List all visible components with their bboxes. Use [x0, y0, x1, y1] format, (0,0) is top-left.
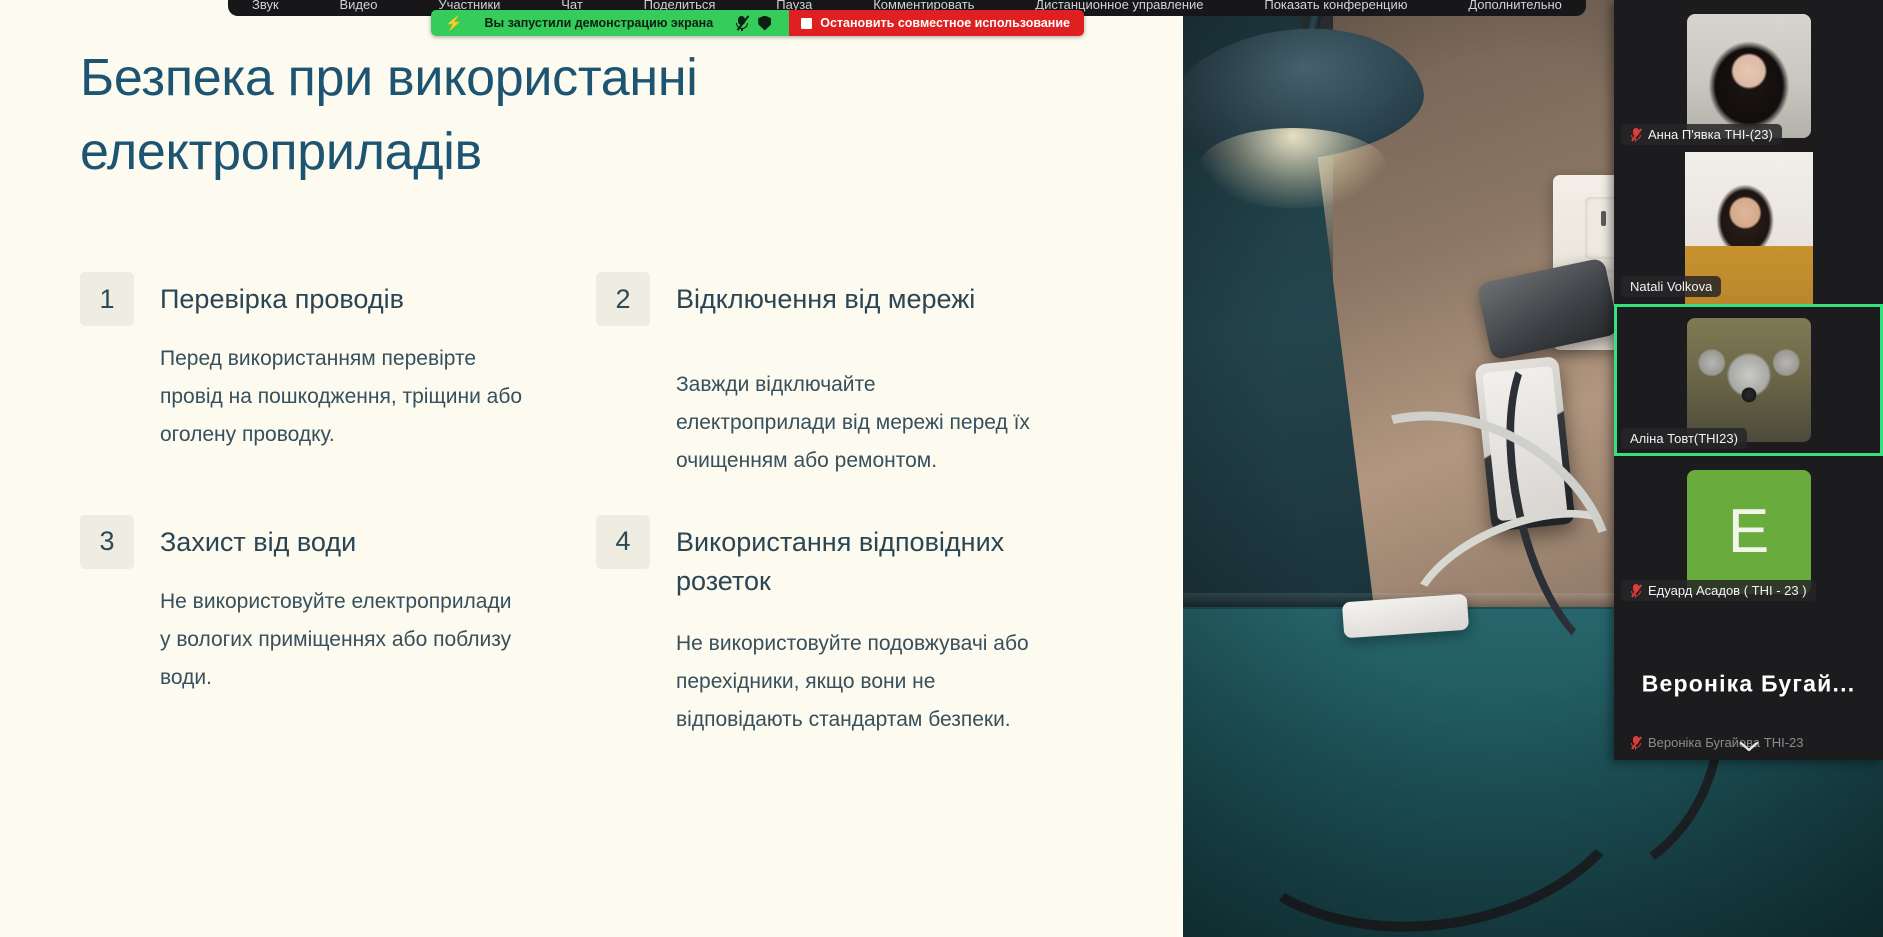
toolbar-item-more[interactable]: Дополнительно — [1458, 0, 1572, 11]
participant-video — [1687, 14, 1811, 138]
participant-name: Аліна Товт(ТНІ23) — [1630, 431, 1738, 446]
shared-slide: Безпека при використанні електроприладів… — [0, 0, 1183, 937]
stop-share-label: Остановить совместное использование — [820, 16, 1070, 30]
card-head: 1 Перевірка проводів — [80, 272, 526, 326]
card-title: Перевірка проводів — [160, 272, 404, 319]
participant-name: Анна П'явка ТНІ-(23) — [1648, 127, 1773, 142]
card-head: 2 Відключення від мережі — [596, 272, 1030, 326]
card-body: Перед використанням перевірте провід на … — [160, 340, 526, 455]
card-body: Не використовуйте електроприлади у волог… — [160, 583, 526, 698]
slide-cards: 1 Перевірка проводів Перед використанням… — [80, 272, 1100, 740]
card-body: Не використовуйте подовжувачі або перехі… — [676, 625, 1030, 740]
participants-filmstrip[interactable]: Анна П'явка ТНІ-(23) Natali Volkova Алін… — [1614, 0, 1883, 760]
card-title: Відключення від мережі — [676, 272, 975, 319]
stop-share-button[interactable]: Остановить совместное использование — [789, 10, 1084, 36]
share-status-text: Вы запустили демонстрацию экрана — [472, 16, 725, 30]
card-number-badge: 2 — [596, 272, 650, 326]
participant-tile-anna[interactable]: Анна П'явка ТНІ-(23) — [1614, 0, 1883, 152]
participant-name-chip: Анна П'явка ТНІ-(23) — [1621, 124, 1782, 145]
participant-name-chip: Аліна Товт(ТНІ23) — [1621, 428, 1747, 449]
stop-square-icon — [801, 18, 812, 29]
slide-card-3: 3 Захист від води Не використовуйте елек… — [80, 481, 596, 740]
participant-name-chip: Едуард Асадов ( ТНІ - 23 ) — [1621, 580, 1816, 601]
participant-tile-eduard[interactable]: E Едуард Асадов ( ТНІ - 23 ) — [1614, 456, 1883, 608]
participant-name: Вероніка Бугайова ТНІ-23 — [1648, 735, 1804, 750]
toolbar-item-video[interactable]: Видео — [330, 0, 388, 11]
card-body: Завжди відключайте електроприлади від ме… — [676, 366, 1030, 481]
participant-video — [1687, 318, 1811, 442]
slide-card-1: 1 Перевірка проводів Перед використанням… — [80, 272, 596, 481]
slide-card-4: 4 Використання відповідних розеток Не ви… — [596, 481, 1100, 740]
card-head: 3 Захист від води — [80, 515, 526, 569]
participant-tile-natali[interactable]: Natali Volkova — [1614, 152, 1883, 304]
card-head: 4 Використання відповідних розеток — [596, 515, 1030, 601]
participant-display-name: Вероніка Бугай... — [1614, 671, 1883, 698]
bolt-icon: ⚡ — [445, 16, 462, 30]
share-banner-icons — [735, 15, 779, 31]
toolbar-item-show-meeting[interactable]: Показать конференцию — [1254, 0, 1417, 11]
participant-name-chip: Вероніка Бугайова ТНІ-23 — [1621, 732, 1813, 753]
participant-tile-veronika[interactable]: Вероніка Бугай... Вероніка Бугайова ТНІ-… — [1614, 608, 1883, 760]
slide-card-2: 2 Відключення від мережі Завжди відключа… — [596, 272, 1100, 481]
card-number-badge: 1 — [80, 272, 134, 326]
participant-name-chip: Natali Volkova — [1621, 276, 1721, 297]
microphone-muted-icon — [1630, 128, 1641, 142]
microphone-muted-icon — [1630, 736, 1641, 750]
shield-icon[interactable] — [758, 16, 771, 31]
screen-share-banner[interactable]: ⚡ Вы запустили демонстрацию экрана Остан… — [431, 10, 1084, 36]
microphone-muted-icon — [1630, 584, 1641, 598]
card-number-badge: 3 — [80, 515, 134, 569]
participant-name: Едуард Асадов ( ТНІ - 23 ) — [1648, 583, 1807, 598]
card-title: Захист від води — [160, 515, 356, 562]
share-status-area: ⚡ Вы запустили демонстрацию экрана — [431, 10, 789, 36]
chevron-down-icon[interactable] — [1739, 741, 1759, 752]
participant-avatar: E — [1687, 470, 1811, 594]
toolbar-item-audio[interactable]: Звук — [242, 0, 289, 11]
card-number-badge: 4 — [596, 515, 650, 569]
slide-title: Безпека при використанні електроприладів — [80, 42, 970, 190]
avatar-letter: E — [1728, 501, 1769, 563]
card-title: Використання відповідних розеток — [676, 515, 1030, 601]
screen-share-window: Безпека при використанні електроприладів… — [0, 0, 1883, 937]
participant-tile-alina[interactable]: Аліна Товт(ТНІ23) — [1614, 304, 1883, 456]
participant-name: Natali Volkova — [1630, 279, 1712, 294]
microphone-muted-icon[interactable] — [735, 15, 748, 31]
